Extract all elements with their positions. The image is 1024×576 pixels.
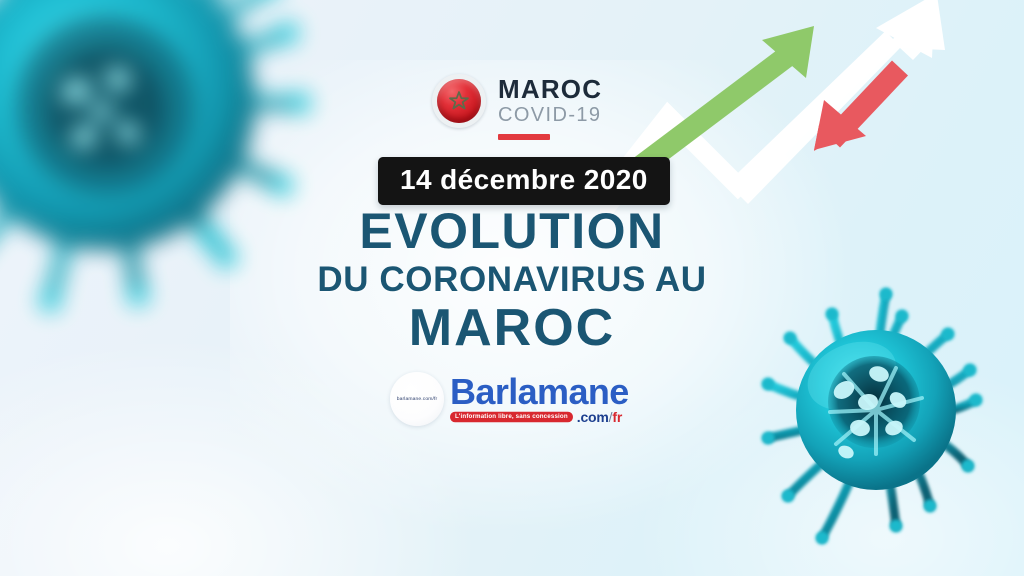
logo-title: MAROC	[498, 76, 602, 102]
domain-fr: fr	[612, 409, 622, 425]
poster-canvas: MAROC COVID-19 14 décembre 2020 EVOLUTIO…	[0, 0, 1024, 576]
coronavirus-particle-sharp-icon	[726, 252, 1024, 576]
barlamane-wordmark: Barlamane	[450, 374, 629, 409]
headline-line-1: EVOLUTION	[256, 205, 768, 257]
pentagram-star-icon	[448, 90, 470, 112]
headline-line-2: DU CORONAVIRUS AU	[256, 259, 768, 300]
logo-red-rule	[498, 134, 550, 140]
headline-line-3: MAROC	[256, 302, 768, 355]
page-title: EVOLUTION DU CORONAVIRUS AU MAROC	[256, 205, 768, 355]
morocco-flag-circle-icon	[432, 74, 486, 128]
barlamane-badge-text: barlamane.com/fr	[397, 396, 438, 402]
maroc-covid-logo: MAROC COVID-19	[432, 74, 602, 140]
logo-subtitle: COVID-19	[498, 104, 602, 127]
domain-com: .com	[577, 409, 609, 425]
barlamane-domain: .com/fr	[577, 410, 622, 424]
barlamane-badge-icon: barlamane.com/fr	[390, 372, 444, 426]
barlamane-logo[interactable]: barlamane.com/fr Barlamane L'information…	[390, 372, 629, 426]
date-banner: 14 décembre 2020	[378, 157, 670, 205]
barlamane-tagline: L'information libre, sans concession	[450, 412, 573, 423]
